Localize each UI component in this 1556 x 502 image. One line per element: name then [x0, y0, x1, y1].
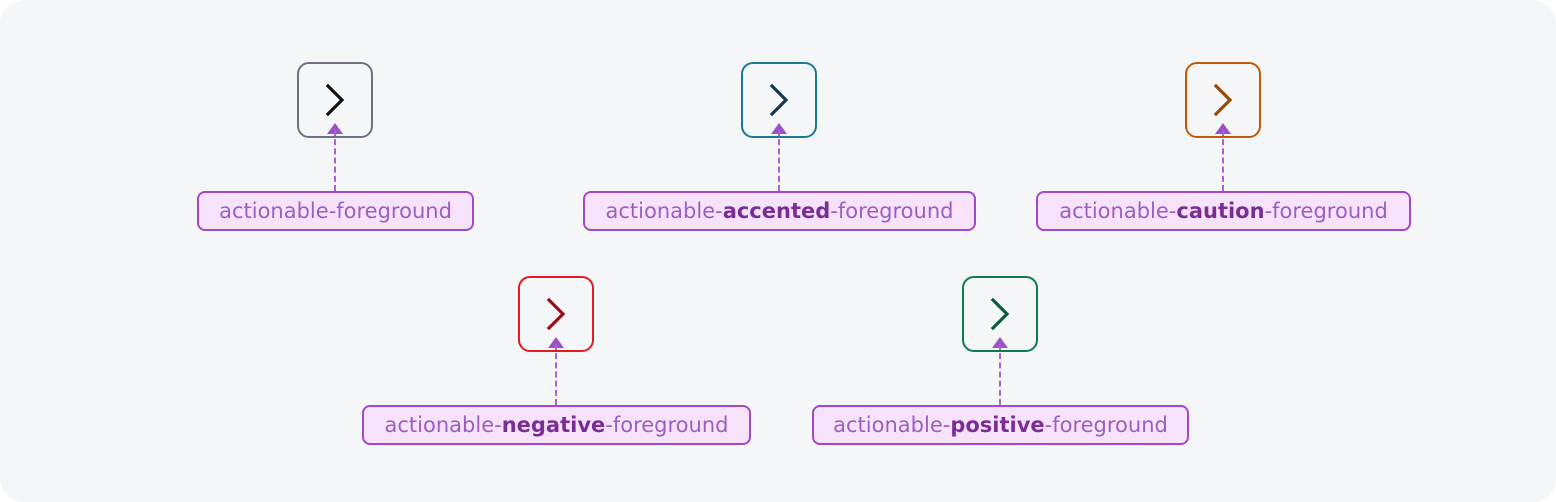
connector-line — [999, 344, 1001, 405]
connector-line — [334, 130, 336, 191]
token-prefix: actionable- — [385, 415, 502, 436]
token-label-actionable-negative-foreground: actionable-negative-foreground — [362, 405, 751, 445]
token-label-actionable-positive-foreground: actionable-positive-foreground — [812, 405, 1189, 445]
token-prefix: actionable- — [606, 201, 723, 222]
token-label-actionable-caution-foreground: actionable-caution-foreground — [1036, 191, 1411, 231]
connector-line — [778, 130, 780, 191]
icon-tile-actionable-caution-foreground[interactable] — [1185, 62, 1261, 138]
token-label-actionable-accented-foreground: actionable-accented-foreground — [583, 191, 976, 231]
token-label-actionable-foreground: actionable-foreground — [197, 191, 474, 231]
token-prefix: actionable- — [833, 415, 950, 436]
token-suffix: -foreground — [830, 201, 953, 222]
icon-tile-actionable-accented-foreground[interactable] — [741, 62, 817, 138]
token-prefix: actionable- — [1059, 201, 1176, 222]
token-emphasis: positive — [950, 415, 1044, 436]
token-suffix: -foreground — [605, 415, 728, 436]
token-annotation-canvas: actionable-foregroundactionable-accented… — [0, 0, 1556, 502]
connector-line — [555, 344, 557, 405]
icon-tile-actionable-positive-foreground[interactable] — [962, 276, 1038, 352]
token-suffix: -foreground — [1045, 415, 1168, 436]
token-emphasis: caution — [1176, 201, 1264, 222]
token-suffix: foreground — [336, 201, 452, 222]
icon-tile-actionable-foreground[interactable] — [297, 62, 373, 138]
token-emphasis: negative — [502, 415, 606, 436]
token-suffix: -foreground — [1265, 201, 1388, 222]
token-emphasis: accented — [723, 201, 831, 222]
connector-line — [1222, 130, 1224, 191]
icon-tile-actionable-negative-foreground[interactable] — [518, 276, 594, 352]
token-prefix: actionable- — [219, 201, 336, 222]
